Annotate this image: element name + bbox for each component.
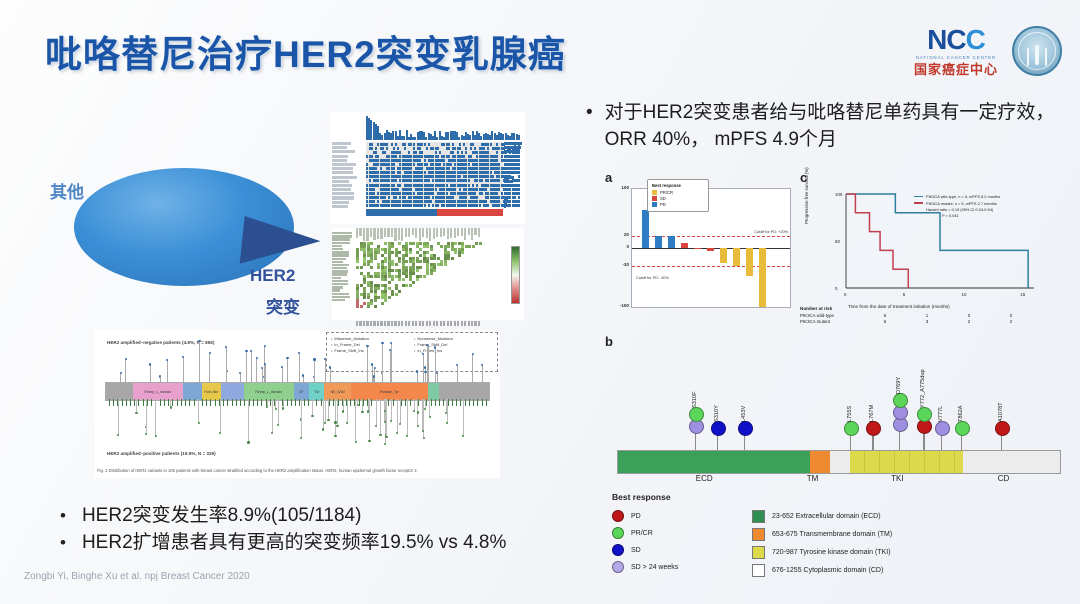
lollipop-stem — [472, 354, 473, 382]
cooccurrence-tick — [450, 321, 452, 326]
oncoprint-cell — [413, 163, 415, 166]
oncoprint-row-label — [332, 184, 352, 187]
mutation-marker-A1078T — [995, 421, 1010, 436]
lollipop-stem — [328, 399, 329, 420]
oncoprint-cell — [371, 143, 373, 146]
oncoprint-cell — [424, 143, 426, 146]
cooccurrence-cell — [430, 248, 433, 251]
oncoprint-cell — [426, 163, 428, 166]
oncoprint-cell — [448, 167, 450, 170]
oncoprint-cell — [498, 200, 500, 203]
lollipop-stem — [355, 399, 356, 442]
cooccurrence-tick — [401, 321, 403, 326]
lollipop-stem — [463, 399, 464, 436]
lollipop-head — [355, 441, 357, 443]
km-legend-line — [914, 202, 923, 204]
mutation-label-V777L: V777L — [938, 406, 944, 422]
cooccurrence-row-label — [332, 283, 348, 285]
risk-value: 3 — [906, 319, 948, 325]
domain-legend-2: 720-987 Tyrosine kinase domain (TKI) — [752, 546, 892, 559]
oncoprint-cell — [481, 192, 483, 195]
legend-circle-icon — [612, 544, 624, 556]
waterfall-bar — [642, 210, 649, 248]
lollipop-stem — [325, 399, 326, 423]
figure-legends: Best response PDPR/CRSDSD > 24 weeks 23-… — [612, 492, 1072, 587]
oncoprint-cell — [395, 155, 397, 158]
oncoprint-cell — [395, 196, 397, 199]
oncoprint-cell — [419, 159, 421, 162]
lollipop-stem — [272, 399, 273, 433]
oncoprint-cell — [476, 196, 478, 199]
oncoprint-row-label — [332, 180, 349, 183]
domain-legend-1: 653-675 Transmembrane domain (TM) — [752, 528, 892, 541]
protein-domain-bar — [617, 450, 1061, 474]
cooccurrence-tick — [387, 321, 389, 326]
lollipop-head — [446, 422, 448, 424]
bullet-mutation-rate: • HER2突变发生率8.9%(105/1184) — [60, 500, 361, 527]
lollipop-head — [155, 435, 157, 437]
oncoprint-cell — [465, 151, 467, 154]
legend-label: SD — [631, 547, 641, 554]
oncoprint-cell — [474, 147, 476, 150]
lollipop-stem — [428, 346, 429, 382]
lollipop-stem — [118, 399, 119, 435]
lollipop-stem — [385, 399, 386, 411]
cooccurrence-col-label — [447, 228, 449, 239]
cooccurrence-row-label — [332, 289, 340, 291]
km-stat-0: Hazard ratio = 0.19 (95% CI 0.04-0.94) — [926, 207, 1034, 212]
cooccurrence-col-label — [394, 228, 396, 241]
cooccurrence-tick — [398, 321, 400, 326]
lollipop-stem — [246, 351, 247, 382]
cooccurrence-row-label — [332, 261, 343, 263]
legend-square-icon — [752, 546, 765, 559]
mutation-marker-L767M — [866, 421, 881, 436]
oncoprint-group-right — [437, 209, 503, 216]
lollipop-head — [434, 346, 436, 348]
lollipop-head — [385, 436, 387, 438]
oncoprint-cell — [421, 167, 423, 170]
domain-label-TKI: TKI — [891, 474, 903, 483]
cutoff-label-0: Cutoff for PD: +20% — [754, 230, 788, 234]
legend-swatch — [652, 196, 657, 201]
oncoprint-cell — [393, 184, 395, 187]
lollipop-stem — [429, 399, 430, 417]
cooccurrence-tick — [436, 321, 438, 326]
lollipop-head — [406, 435, 408, 437]
lollipop-head — [282, 407, 284, 409]
oncoprint-cell — [384, 151, 386, 154]
km-y-axis-label: Progression-free survival (%) — [804, 167, 809, 224]
lollipop-head — [342, 410, 344, 412]
oncoprint-group-strip — [366, 209, 503, 216]
oncoprint-cell — [479, 204, 481, 207]
cooccurrence-col-label — [426, 228, 428, 238]
lollipop-stem — [146, 399, 147, 434]
lollipop-head — [346, 422, 348, 424]
domain-legend-items: 23-652 Extracellular domain (ECD)653-675… — [752, 510, 892, 582]
lollipop-head — [275, 408, 277, 410]
cooccurrence-col-label — [468, 228, 470, 235]
cooccurrence-cell — [479, 242, 482, 245]
oncoprint-cell — [424, 159, 426, 162]
oncoprint-cell — [492, 175, 494, 178]
cooccurrence-tick — [359, 321, 361, 326]
lollipop-head — [250, 350, 252, 352]
oncoprint-cell — [410, 167, 412, 170]
legend-swatch — [652, 190, 657, 195]
oncoprint-cell — [371, 147, 373, 150]
oncoprint-cell — [450, 163, 452, 166]
page-title: 吡咯替尼治疗HER2突变乳腺癌 — [45, 24, 566, 78]
lollipop-head — [334, 421, 336, 423]
cooccurrence-cell — [416, 269, 419, 272]
oncoprint-cell — [435, 151, 437, 154]
lollipop-stem — [125, 359, 126, 382]
km-legend-item-1: PIK3CA mutant, n = 5, mPFS 2.7 months — [914, 201, 1034, 206]
lollipop-stem — [407, 399, 408, 436]
cooccurrence-tick — [461, 321, 463, 326]
cooccurrence-cell — [381, 302, 384, 305]
lollipop-stem — [287, 358, 288, 382]
oncoprint-cell — [393, 167, 395, 170]
oncoprint-cell — [439, 163, 441, 166]
lollipop-head — [277, 424, 279, 426]
oncoprint-row-label — [332, 205, 348, 208]
lollipop-stem — [447, 399, 448, 423]
panel-b-protein-lollipop: b S310FS310YL453VL755SL767MD769YY772_A77… — [605, 340, 1067, 480]
oncoprint-row-label — [332, 171, 353, 174]
oncoprint-cell — [465, 196, 467, 199]
oncoprint-side-bar — [504, 146, 521, 149]
lollipop-head — [322, 428, 324, 430]
cooccurrence-col-label — [387, 228, 389, 237]
km-xtick-0: 0 — [844, 292, 846, 297]
oncoprint-cell — [375, 147, 377, 150]
cooccurrence-tick — [356, 321, 358, 326]
cooccurrence-cell — [391, 278, 394, 281]
domain-segment-Recep_L_domain: Recep_L_domain — [133, 383, 183, 400]
cooccurrence-col-label — [474, 228, 476, 235]
lollipop-head — [413, 410, 415, 412]
lollipop-head — [266, 406, 268, 408]
lollipop-head — [264, 363, 266, 365]
oncoprint-matrix — [330, 112, 525, 224]
cooccurrence-col-label — [433, 228, 435, 239]
oncoprint-cell — [432, 192, 434, 195]
oncoprint-cell — [490, 171, 492, 174]
waterfall-bar — [694, 248, 701, 249]
domain-segment-2 — [183, 383, 202, 400]
figure-caption: Fig. 2 Distribution of HER2 variants in … — [97, 468, 498, 474]
legend-circle-icon — [612, 561, 624, 573]
mutation-marker-L453V — [738, 421, 753, 436]
ncc-letter-c2: C — [966, 24, 985, 55]
lollipop-stem — [199, 341, 200, 382]
oncoprint-row-label — [332, 188, 351, 191]
cooccurrence-cell — [409, 251, 412, 254]
legend-label: PD — [660, 202, 666, 207]
cooccurrence-col-label — [415, 228, 417, 238]
institution-logo: NCC NATIONAL CANCER CENTER 国家癌症中心 — [914, 26, 1062, 76]
lollipop-head — [136, 412, 138, 414]
cooccurrence-tick — [419, 321, 421, 326]
cooccurrence-row-label — [332, 286, 343, 288]
mutation-label-L453V: L453V — [741, 406, 747, 422]
oncoprint-cell — [470, 147, 472, 150]
cooccurrence-tick — [363, 321, 365, 326]
lollipop-stem — [446, 399, 447, 413]
lollipop-head — [390, 420, 392, 422]
cooccurrence-row-label — [332, 273, 347, 275]
domain-segment-Furin-like: Furin-like — [202, 383, 221, 400]
lollipop-head — [379, 434, 381, 436]
cooccurrence-tick — [412, 321, 414, 326]
legend-label: PD — [631, 513, 641, 520]
mutation-label-Y772_A775dup: Y772_A775dup — [920, 369, 926, 408]
cooccurrence-cell — [360, 305, 363, 308]
legend-label: 676-1255 Cytoplasmic domain (CD) — [772, 567, 883, 574]
cooccurrence-cell — [356, 260, 359, 263]
lollipop-stem — [422, 399, 423, 431]
cooccurrence-col-label — [380, 228, 382, 239]
cooccurrence-col-label — [450, 228, 452, 238]
cooccurrence-tick — [433, 321, 435, 326]
cooccurrence-row-label — [332, 299, 345, 301]
oncoprint-cell — [437, 204, 439, 207]
oncoprint-cell — [373, 200, 375, 203]
oncoprint-cell — [468, 184, 470, 187]
oncoprint-side-bar — [504, 196, 508, 199]
oncoprint-cell — [428, 204, 430, 207]
legend-swatch — [652, 202, 657, 207]
cooccurrence-color-scale — [511, 246, 520, 304]
cooccurrence-col-label — [373, 228, 375, 240]
ncc-logo: NCC NATIONAL CANCER CENTER 国家癌症中心 — [914, 26, 998, 76]
bullet-marker-icon: • — [60, 533, 66, 553]
cooccurrence-axis-ticks — [356, 313, 494, 319]
legend-circle-icon — [612, 510, 624, 522]
oncoprint-cell — [428, 143, 430, 146]
oncoprint-cell — [496, 192, 498, 195]
waterfall-ytick-100: 100 — [605, 185, 629, 190]
km-ytick-50: 50 — [835, 239, 840, 244]
cooccurrence-cells — [356, 242, 494, 312]
oncoprint-cell — [439, 151, 441, 154]
oncoprint-cell — [487, 151, 489, 154]
oncoprint-cell — [426, 147, 428, 150]
legend-label: 653-675 Transmembrane domain (TM) — [772, 531, 892, 538]
oncoprint-cell — [424, 204, 426, 207]
km-ytick-0: 0 — [835, 286, 837, 291]
waterfall-ytick-0: 0 — [605, 244, 629, 249]
oncoprint-cell — [498, 163, 500, 166]
cooccurrence-row-label — [332, 248, 343, 250]
cooccurrence-tick — [426, 321, 428, 326]
oncoprint-side-bar — [504, 205, 506, 208]
lollipop-stem — [397, 399, 398, 433]
oncoprint-side-bar — [504, 150, 520, 153]
cooccurrence-col-label — [356, 228, 358, 238]
lollipop-head — [149, 363, 151, 365]
waterfall-bar — [707, 248, 714, 251]
oncoprint-cell — [413, 147, 415, 150]
oncoprint-cell — [448, 147, 450, 150]
oncoprint-row-label — [332, 142, 351, 145]
oncoprint-cell — [463, 155, 465, 158]
oncoprint-cell — [483, 147, 485, 150]
oncoprint-cell — [366, 163, 368, 166]
oncoprint-cell — [404, 196, 406, 199]
cooccurrence-cell — [430, 272, 433, 275]
lollipop-stem — [150, 365, 151, 382]
cooccurrence-col-label — [471, 228, 473, 240]
risk-table-title: Number at risk — [800, 306, 1050, 311]
km-legend-label: PIK3CA wild-type, n = 5, mPFS 8.2 months — [926, 194, 1000, 199]
cooccurrence-col-label — [366, 228, 368, 241]
lollipop-head — [334, 435, 336, 437]
oncoprint-cell — [435, 188, 437, 191]
cooccurrence-cell — [472, 245, 475, 248]
domain-segment-4 — [221, 383, 244, 400]
mutation-marker-S310Y — [711, 421, 726, 436]
oncoprint-cell — [448, 143, 450, 146]
oncoprint-side-bar — [504, 142, 522, 145]
mutation-marker-V777L — [935, 421, 950, 436]
cooccurrence-cell — [370, 266, 373, 269]
cooccurrence-col-label — [422, 228, 424, 237]
lollipop-head — [381, 342, 383, 344]
cooccurrence-row-label — [332, 235, 352, 237]
hospital-seal-icon — [1012, 26, 1062, 76]
cooccurrence-tick — [408, 321, 410, 326]
cooccurrence-cell — [458, 254, 461, 257]
oncoprint-cell — [377, 155, 379, 158]
panel-a-label: a — [605, 170, 612, 185]
risk-row-1: PIK3CA mutant5322 — [800, 319, 1032, 325]
oncoprint-cell — [391, 143, 393, 146]
cooccurrence-tick — [391, 321, 393, 326]
lollipop-head — [375, 425, 377, 427]
km-ytick-100: 100 — [835, 192, 842, 197]
oncoprint-side-bar — [504, 201, 507, 204]
waterfall-legend-item-PD: PD — [652, 202, 704, 207]
oncoprint-cell — [501, 192, 503, 195]
lollipop-stem — [372, 365, 373, 382]
km-curve-1 — [846, 194, 908, 288]
oncoprint-cell — [373, 192, 375, 195]
lollipop-stem — [482, 365, 483, 382]
cooccurrence-col-label — [419, 228, 421, 241]
mutation-label-D769Y: D769Y — [896, 377, 902, 394]
km-risk-table: Number at risk PIK3CA wild-type5100PIK3C… — [800, 306, 1050, 325]
oncoprint-cell — [472, 184, 474, 187]
lollipop-stem — [265, 364, 266, 382]
domain-legend-3: 676-1255 Cytoplasmic domain (CD) — [752, 564, 892, 577]
oncoprint-cell — [384, 196, 386, 199]
cooccurrence-cell — [395, 263, 398, 266]
lollipop-head — [125, 358, 127, 360]
legend-label: 23-652 Extracellular domain (ECD) — [772, 513, 881, 520]
pie-exploded-slice — [240, 216, 323, 272]
oncoprint-cell — [472, 143, 474, 146]
lollipop-stem — [278, 399, 279, 425]
cooccurrence-tick — [447, 321, 449, 326]
oncoprint-cell — [386, 143, 388, 146]
lollipop-head — [361, 411, 363, 413]
oncoprint-cell — [498, 179, 500, 182]
cooccurrence-col-label — [401, 228, 403, 241]
oncoprint-cell — [393, 163, 395, 166]
oncoprint-cell — [461, 151, 463, 154]
oncoprint-side-bar — [504, 167, 516, 170]
lollipop-head — [357, 404, 359, 406]
mutation-label-L755S: L755S — [847, 406, 853, 422]
lollipop-head — [300, 437, 302, 439]
waterfall-legend-item-SD: SD — [652, 196, 704, 201]
cooccurrence-cell — [374, 299, 377, 302]
oncoprint-cell — [408, 151, 410, 154]
oncoprint-cell — [474, 192, 476, 195]
km-legend-line — [914, 196, 923, 198]
oncoprint-cell — [386, 147, 388, 150]
cooccurrence-row-label — [332, 267, 347, 269]
risk-value: 2 — [990, 319, 1032, 325]
cooccurrence-tick — [384, 321, 386, 326]
ncc-letter-c1: C — [946, 24, 965, 55]
lollipop-head — [423, 437, 425, 439]
oncoprint-side-bar — [504, 163, 517, 166]
oncoprint-cell — [468, 179, 470, 182]
mutation-label-L767M: L767M — [869, 405, 875, 422]
cooccurrence-col-label — [391, 228, 393, 237]
cooccurrence-cell — [395, 293, 398, 296]
cooccurrence-tick — [474, 321, 476, 326]
lollipop-head — [271, 432, 273, 434]
domain-label-ECD: ECD — [696, 474, 713, 483]
lollipop-stem — [167, 360, 168, 382]
lollipop-stem — [390, 350, 391, 382]
cooccurrence-row-label — [332, 280, 348, 282]
cooccurrence-cell — [374, 257, 377, 260]
oncoprint-cell — [399, 151, 401, 154]
cooccurrence-row-label — [332, 242, 350, 244]
protein-domain-labels: ECDTMTKICD — [617, 474, 1061, 486]
oncoprint-cell — [413, 143, 415, 146]
km-legend: PIK3CA wild-type, n = 5, mPFS 8.2 months… — [914, 194, 1034, 218]
lollipop-stem — [314, 360, 315, 383]
lollipop-stem — [376, 399, 377, 426]
oncoprint-cell — [481, 179, 483, 182]
lollipop-head — [416, 370, 418, 372]
oncoprint-side-bars — [504, 142, 523, 206]
lollipop-head — [120, 372, 122, 374]
oncoprint-cell — [419, 147, 421, 150]
oncoprint-cell — [428, 179, 430, 182]
oncoprint-cell — [496, 159, 498, 162]
oncoprint-cell — [463, 143, 465, 146]
lollipop-stem — [425, 372, 426, 382]
oncoprint-cell — [437, 147, 439, 150]
mutation-label-S310Y: S310Y — [714, 405, 720, 422]
cooccurrence-row-label — [332, 258, 346, 260]
ncc-chinese-name: 国家癌症中心 — [914, 63, 998, 76]
efficacy-bullet: • 对于HER2突变患者给与吡咯替尼单药具有一定疗效，ORR 40%， mPFS… — [586, 100, 1072, 154]
oncoprint-cell — [459, 188, 461, 191]
oncoprint-cell — [399, 184, 401, 187]
cooccurrence-cell — [423, 275, 426, 278]
cooccurrence-tick — [370, 321, 372, 326]
